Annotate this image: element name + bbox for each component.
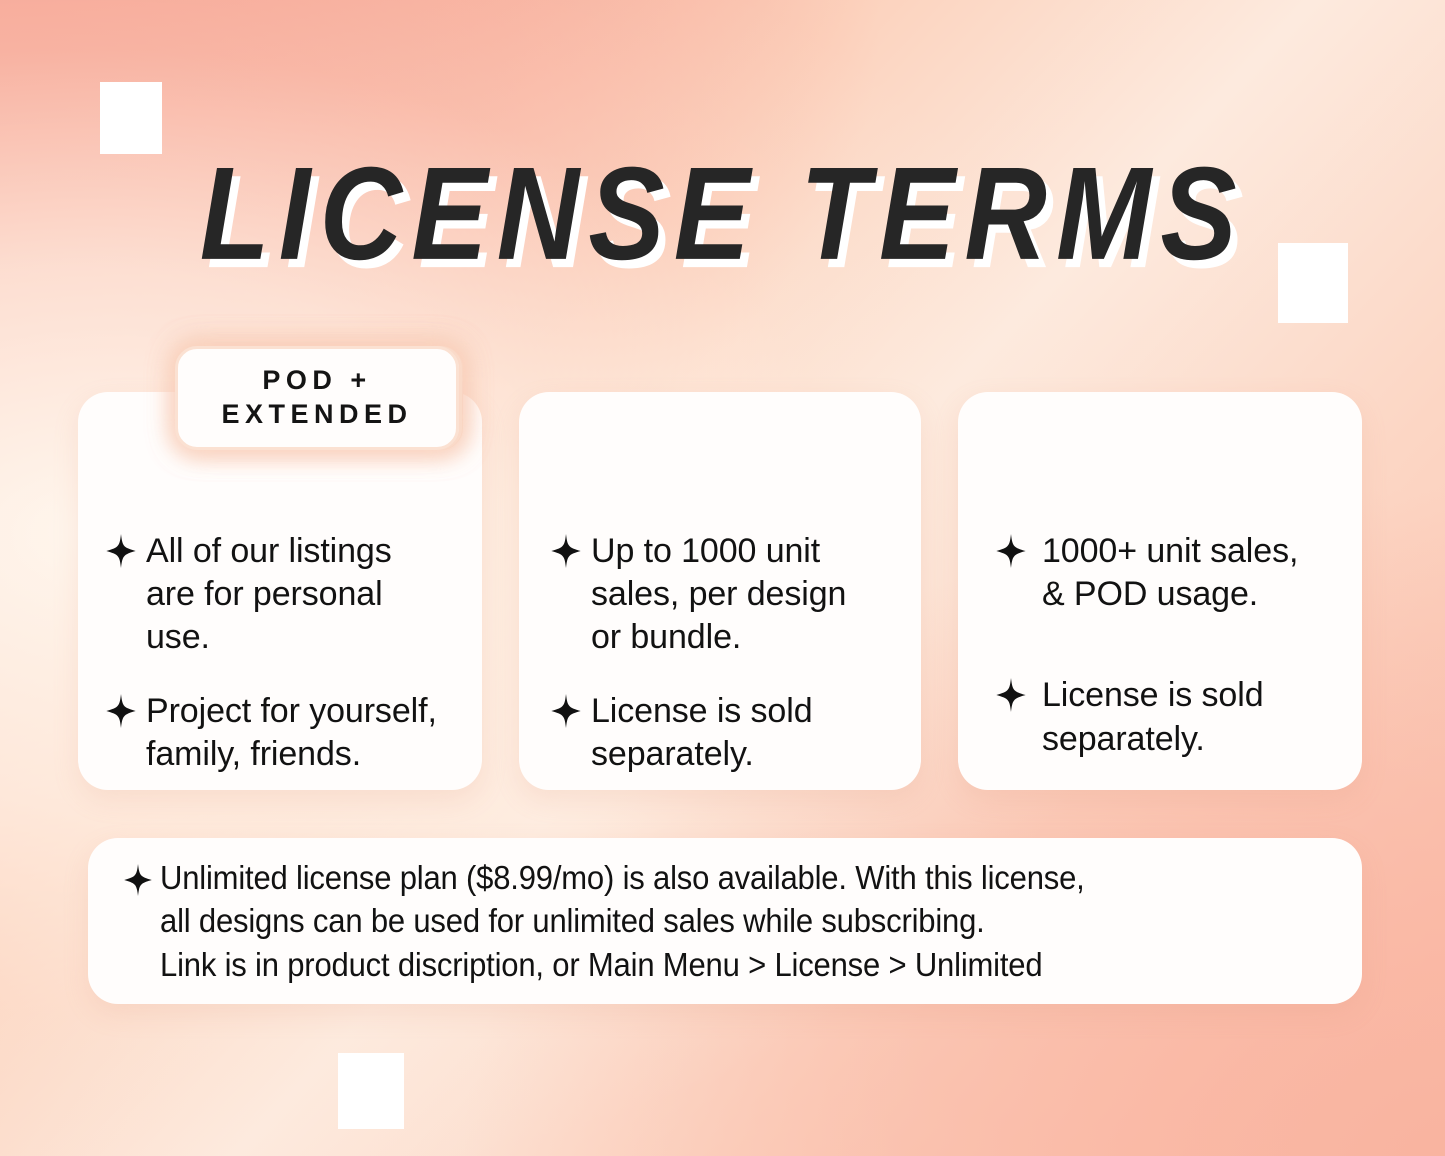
star-bullet-icon — [551, 534, 581, 568]
page-title-container: LICENSE TERMS — [0, 148, 1445, 260]
unlimited-plan-banner[interactable]: Unlimited license plan ($8.99/mo) is als… — [88, 838, 1362, 1004]
sparkle-top-left-icon — [100, 82, 162, 154]
unlimited-plan-text: Unlimited license plan ($8.99/mo) is als… — [160, 856, 1085, 987]
license-card-pod-extended[interactable]: 1000+ unit sales, & POD usage. License i… — [958, 392, 1362, 790]
list-item: License is sold separately. — [551, 690, 903, 776]
list-item-text: All of our listings are for personal use… — [146, 530, 392, 660]
unlimited-plan-banner-inner: Unlimited license plan ($8.99/mo) is als… — [88, 856, 1178, 987]
star-bullet-icon — [996, 678, 1026, 712]
list-item-text: 1000+ unit sales, & POD usage. — [1042, 530, 1298, 616]
license-card-personal[interactable]: All of our listings are for personal use… — [78, 392, 482, 790]
card-header-label: POD + EXTENDED — [221, 364, 412, 432]
list-item: Project for yourself, family, friends. — [106, 690, 458, 776]
list-item: License is sold separately. — [996, 674, 1346, 760]
star-bullet-icon — [106, 694, 136, 728]
license-card-commercial[interactable]: Up to 1000 unit sales, per design or bun… — [519, 392, 921, 790]
card-body-personal: All of our listings are for personal use… — [78, 530, 482, 776]
page-title: LICENSE TERMS — [199, 148, 1245, 280]
list-item-text: Up to 1000 unit sales, per design or bun… — [591, 530, 846, 660]
list-item-text: License is sold separately. — [591, 690, 813, 776]
list-item: Up to 1000 unit sales, per design or bun… — [551, 530, 903, 660]
card-header-pod-extended[interactable]: POD + EXTENDED — [175, 346, 459, 450]
star-bullet-icon — [996, 534, 1026, 568]
card-body-pod-extended: 1000+ unit sales, & POD usage. License i… — [958, 530, 1362, 761]
star-bullet-icon — [106, 534, 136, 568]
list-item: 1000+ unit sales, & POD usage. — [996, 530, 1346, 616]
license-terms-poster: LICENSE TERMS All of our listings are fo… — [0, 0, 1445, 1156]
list-item-text: Project for yourself, family, friends. — [146, 690, 437, 776]
card-body-commercial: Up to 1000 unit sales, per design or bun… — [519, 530, 921, 776]
sparkle-bottom-left-icon — [338, 1053, 404, 1129]
license-cards-row: All of our listings are for personal use… — [78, 346, 1364, 796]
star-bullet-icon — [551, 694, 581, 728]
list-item: All of our listings are for personal use… — [106, 530, 458, 660]
star-bullet-icon — [124, 864, 152, 896]
list-item-text: License is sold separately. — [1042, 674, 1264, 760]
